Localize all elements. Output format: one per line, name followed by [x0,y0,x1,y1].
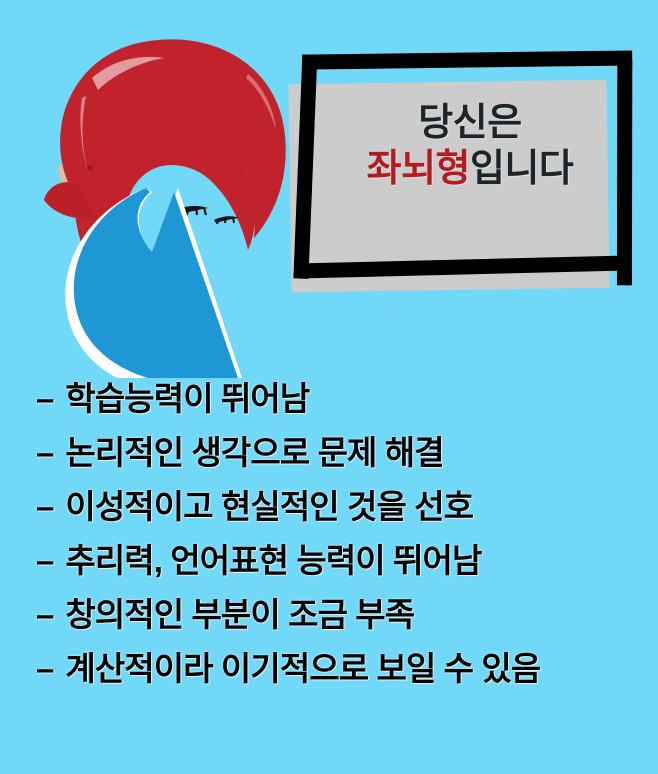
trait-item-3-label: 이성적이고 현실적인 것을 선호 [65,480,473,528]
trait-item-4-label: 추리력, 언어표현 능력이 뛰어남 [65,534,481,582]
trait-list: – 학습능력이 뛰어남 – 논리적인 생각으로 문제 해결 – 이성적이고 현실… [36,372,636,696]
headline-text-block: 당신은 좌뇌형입니다 [316,100,624,193]
trait-item-2: – 논리적인 생각으로 문제 해결 [36,426,636,480]
headline-card: 당신은 좌뇌형입니다 [286,52,654,304]
trait-item-3: – 이성적이고 현실적인 것을 선호 [36,480,636,534]
trait-dash-icon: – [36,542,54,580]
trait-item-2-label: 논리적인 생각으로 문제 해결 [65,426,443,474]
headline-line-1-text: 당신은 [418,102,521,144]
trait-item-5: – 창의적인 부분이 조금 부족 [36,588,636,642]
trait-dash-icon: – [36,434,54,472]
trait-dash-icon: – [36,650,54,688]
woman-illustration [18,18,308,378]
trait-item-4: – 추리력, 언어표현 능력이 뛰어남 [36,534,636,588]
headline-accent-text: 좌뇌형 [367,148,470,190]
trait-item-1-label: 학습능력이 뛰어남 [65,372,309,420]
headline-line-2: 좌뇌형입니다 [316,146,624,192]
trait-item-1: – 학습능력이 뛰어남 [36,372,636,426]
trait-item-5-label: 창의적인 부분이 조금 부족 [65,588,414,636]
poster-canvas: 당신은 좌뇌형입니다 – 학습능력이 뛰어남 – 논리적인 생각으로 문제 해결… [0,0,658,774]
trait-dash-icon: – [36,596,54,634]
trait-dash-icon: – [36,380,54,418]
trait-dash-icon: – [36,488,54,526]
headline-line-2-rest: 입니다 [470,148,573,190]
trait-item-6: – 계산적이라 이기적으로 보일 수 있음 [36,642,636,696]
headline-line-1: 당신은 [316,100,624,146]
trait-item-6-label: 계산적이라 이기적으로 보일 수 있음 [65,642,540,690]
